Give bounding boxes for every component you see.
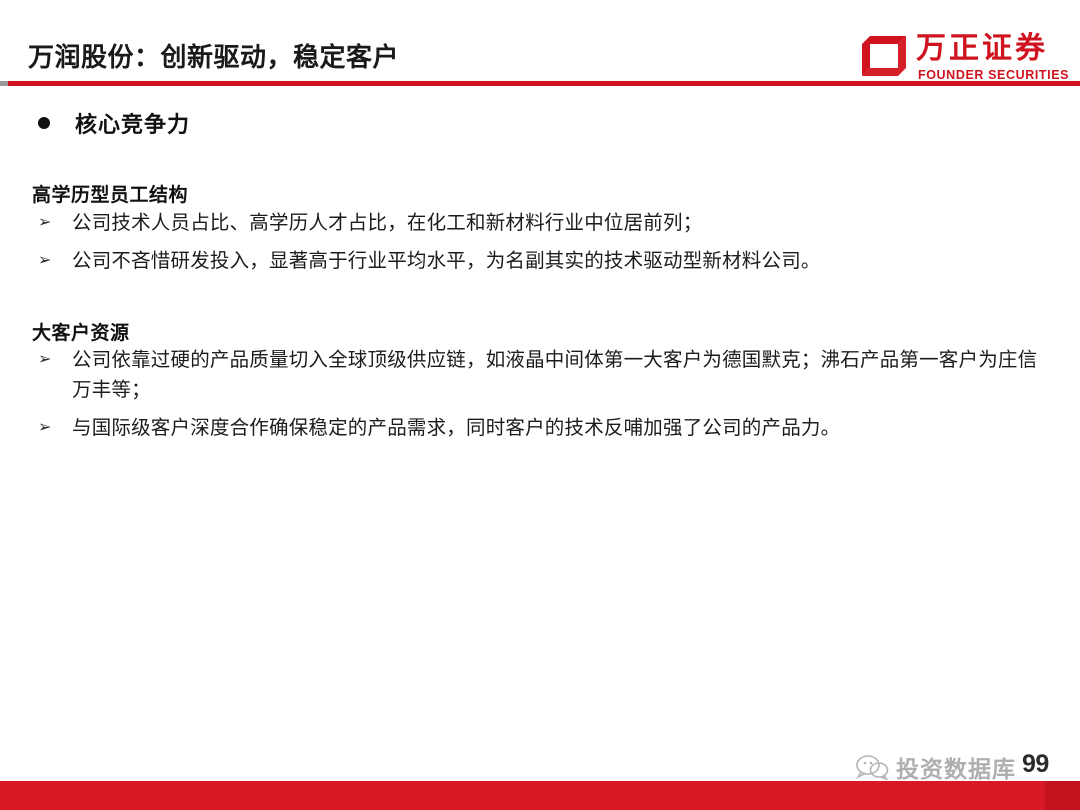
slide-root: 万润股份：创新驱动，稳定客户 万正证券 FOUNDER SECURITIES 核… bbox=[0, 0, 1080, 810]
company-logo: 万正证券 FOUNDER SECURITIES bbox=[862, 32, 1062, 84]
list-item-text: 与国际级客户深度合作确保稳定的产品需求，同时客户的技术反哺加强了公司的产品力。 bbox=[72, 413, 1042, 443]
arrow-bullet-icon: ➢ bbox=[32, 413, 72, 443]
bullet-list-1: ➢ 公司技术人员占比、高学历人才占比，在化工和新材料行业中位居前列； ➢ 公司不… bbox=[32, 208, 1042, 284]
footer-bar bbox=[0, 781, 1080, 810]
founder-securities-mark-icon bbox=[862, 36, 906, 76]
slide-body: 核心竞争力 高学历型员工结构 ➢ 公司技术人员占比、高学历人才占比，在化工和新材… bbox=[0, 90, 1080, 780]
arrow-bullet-icon: ➢ bbox=[32, 208, 72, 238]
bullet-list-2: ➢ 公司依靠过硬的产品质量切入全球顶级供应链，如液晶中间体第一大客户为德国默克；… bbox=[32, 345, 1042, 451]
list-item: ➢ 与国际级客户深度合作确保稳定的产品需求，同时客户的技术反哺加强了公司的产品力… bbox=[32, 413, 1042, 443]
sub-heading-2: 大客户资源 bbox=[32, 318, 130, 345]
sub-heading-1: 高学历型员工结构 bbox=[32, 180, 188, 207]
list-item-text: 公司不吝惜研发投入，显著高于行业平均水平，为名副其实的技术驱动型新材料公司。 bbox=[72, 246, 1042, 276]
bullet-dot-icon bbox=[38, 117, 50, 129]
list-item: ➢ 公司依靠过硬的产品质量切入全球顶级供应链，如液晶中间体第一大客户为德国默克；… bbox=[32, 345, 1042, 405]
list-item-text: 公司依靠过硬的产品质量切入全球顶级供应链，如液晶中间体第一大客户为德国默克；沸石… bbox=[72, 345, 1042, 405]
list-item-text: 公司技术人员占比、高学历人才占比，在化工和新材料行业中位居前列； bbox=[72, 208, 1042, 238]
slide-header: 万润股份：创新驱动，稳定客户 万正证券 FOUNDER SECURITIES bbox=[0, 0, 1080, 90]
logo-english-name: FOUNDER SECURITIES bbox=[918, 68, 1069, 82]
arrow-bullet-icon: ➢ bbox=[32, 345, 72, 375]
section-heading-label: 核心竞争力 bbox=[75, 107, 190, 139]
section-heading: 核心竞争力 bbox=[38, 107, 190, 139]
page-number: 99 bbox=[1022, 750, 1049, 779]
page-title: 万润股份：创新驱动，稳定客户 bbox=[28, 37, 399, 74]
watermark: 投资数据库 bbox=[855, 752, 1016, 782]
watermark-label: 投资数据库 bbox=[896, 750, 1016, 784]
header-divider bbox=[0, 81, 1080, 86]
footer-bar-edge bbox=[1045, 781, 1080, 810]
arrow-bullet-icon: ➢ bbox=[32, 246, 72, 276]
list-item: ➢ 公司技术人员占比、高学历人才占比，在化工和新材料行业中位居前列； bbox=[32, 208, 1042, 238]
header-divider-cap bbox=[0, 81, 8, 86]
wechat-icon bbox=[855, 754, 889, 780]
list-item: ➢ 公司不吝惜研发投入，显著高于行业平均水平，为名副其实的技术驱动型新材料公司。 bbox=[32, 246, 1042, 276]
logo-chinese-name: 万正证券 bbox=[916, 32, 1048, 66]
